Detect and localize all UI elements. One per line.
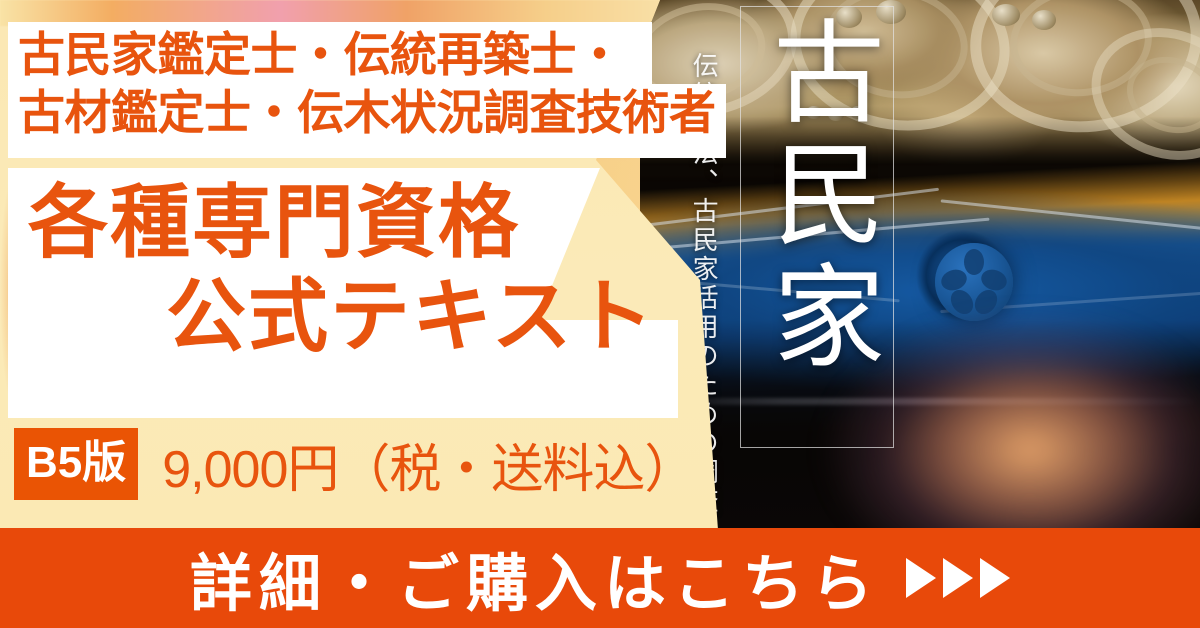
main-headline: 各種専門資格 公式テキスト [14,176,674,365]
kicker-line-1: 古民家鑑定士・伝統再築士・ [18,26,718,84]
cta-bar[interactable]: 詳細・ご購入はこちら [0,528,1200,628]
crest-petal [979,266,1010,293]
triangle-right-icon [943,558,973,598]
crest-petal [964,249,984,275]
cta-label: 詳細・ご購入はこちら [190,533,880,623]
triangle-right-icon [980,558,1010,598]
price-label: 9,000円（税・送料込） [162,427,695,502]
qualifications-kicker: 古民家鑑定士・伝統再築士・ 古材鑑定士・伝木状況調査技術者 [18,26,718,142]
carved-bead [992,4,1020,26]
carved-bead [1032,10,1056,30]
format-badge: B5版 [14,428,138,500]
book-cover-image: 古民家 伝統構法、古民家活用のための調査と再生の [640,0,1200,530]
cta-arrows [906,558,1010,598]
triangle-right-icon [906,558,936,598]
cover-title: 古民家 [748,14,884,438]
crest-petal [939,266,970,293]
promo-banner: 古民家 伝統構法、古民家活用のための調査と再生の 古民家鑑定士・伝統再築士・ 古… [0,0,1200,628]
price-row: B5版 9,000円（税・送料込） [14,428,695,500]
headline-line-2: 公式テキスト [14,270,674,364]
kicker-line-2: 古材鑑定士・伝木状況調査技術者 [18,84,718,142]
headline-line-1: 各種専門資格 [14,176,674,270]
